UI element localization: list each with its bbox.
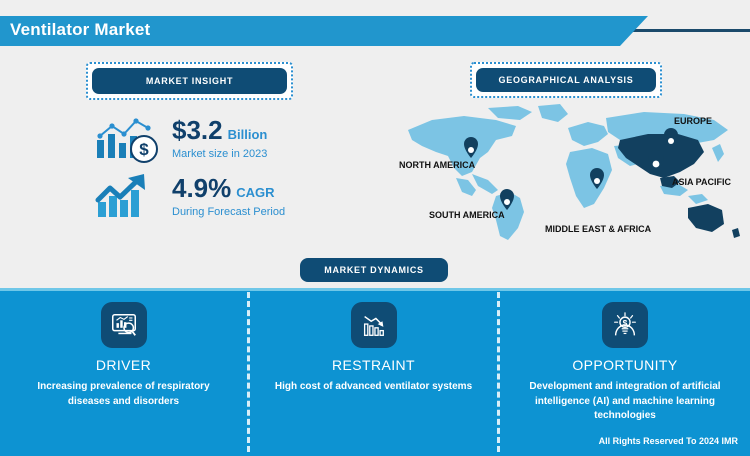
market-dynamics-header: MARKET DYNAMICS (300, 258, 448, 282)
driver-description: Increasing prevalence of respiratory dis… (17, 380, 229, 409)
growth-arrow-icon (92, 170, 164, 222)
cagr-unit: CAGR (236, 185, 274, 200)
title-banner: Ventilator Market (0, 8, 750, 42)
map-label-middle-east-africa: MIDDLE EAST & AFRICA (545, 224, 651, 234)
driver-title: DRIVER (96, 357, 151, 373)
metric-market-size: $ $3.2 Billion Market size in 2023 (92, 112, 267, 164)
declining-chart-icon (351, 302, 397, 348)
cagr-value: 4.9% (172, 175, 231, 201)
world-map: EUROPE NORTH AMERICA ASIA PACIFIC SOUTH … (392, 100, 750, 250)
lightbulb-dollar-icon: $ (602, 302, 648, 348)
svg-text:$: $ (139, 140, 149, 159)
geographical-analysis-label: GEOGRAPHICAL ANALYSIS (476, 68, 656, 92)
market-dynamics-label: MARKET DYNAMICS (300, 258, 448, 282)
bar-chart-dollar-icon: $ (92, 112, 164, 164)
footer-copyright: All Rights Reserved To 2024 IMR (599, 436, 738, 446)
dynamics-column-restraint: RESTRAINT High cost of advanced ventilat… (250, 288, 497, 456)
geographical-analysis-header: GEOGRAPHICAL ANALYSIS (470, 62, 662, 98)
dynamics-column-opportunity: $ OPPORTUNITY Development and integratio… (500, 288, 750, 456)
market-size-unit: Billion (228, 127, 268, 142)
metric-cagr: 4.9% CAGR During Forecast Period (92, 170, 285, 222)
svg-text:$: $ (623, 318, 628, 328)
map-label-asia-pacific: ASIA PACIFIC (672, 177, 731, 187)
opportunity-description: Development and integration of artificia… (518, 380, 733, 424)
restraint-description: High cost of advanced ventilator systems (267, 380, 479, 395)
cagr-values: 4.9% CAGR During Forecast Period (172, 175, 285, 218)
cagr-caption: During Forecast Period (172, 206, 285, 218)
dynamics-column-driver: DRIVER Increasing prevalence of respirat… (0, 288, 247, 456)
market-size-caption: Market size in 2023 (172, 148, 267, 160)
analytics-search-icon (101, 302, 147, 348)
map-label-south-america: SOUTH AMERICA (429, 210, 505, 220)
map-label-north-america: NORTH AMERICA (399, 160, 475, 170)
opportunity-title: OPPORTUNITY (572, 357, 677, 373)
restraint-title: RESTRAINT (332, 357, 415, 373)
map-label-europe: EUROPE (674, 116, 712, 126)
market-size-values: $3.2 Billion Market size in 2023 (172, 117, 267, 160)
infographic-root: Ventilator Market MARKET INSIGHT $ (0, 0, 750, 456)
market-insight-header: MARKET INSIGHT (86, 62, 293, 100)
market-size-value: $3.2 (172, 117, 223, 143)
market-insight-label: MARKET INSIGHT (92, 68, 287, 94)
page-title: Ventilator Market (10, 20, 150, 40)
